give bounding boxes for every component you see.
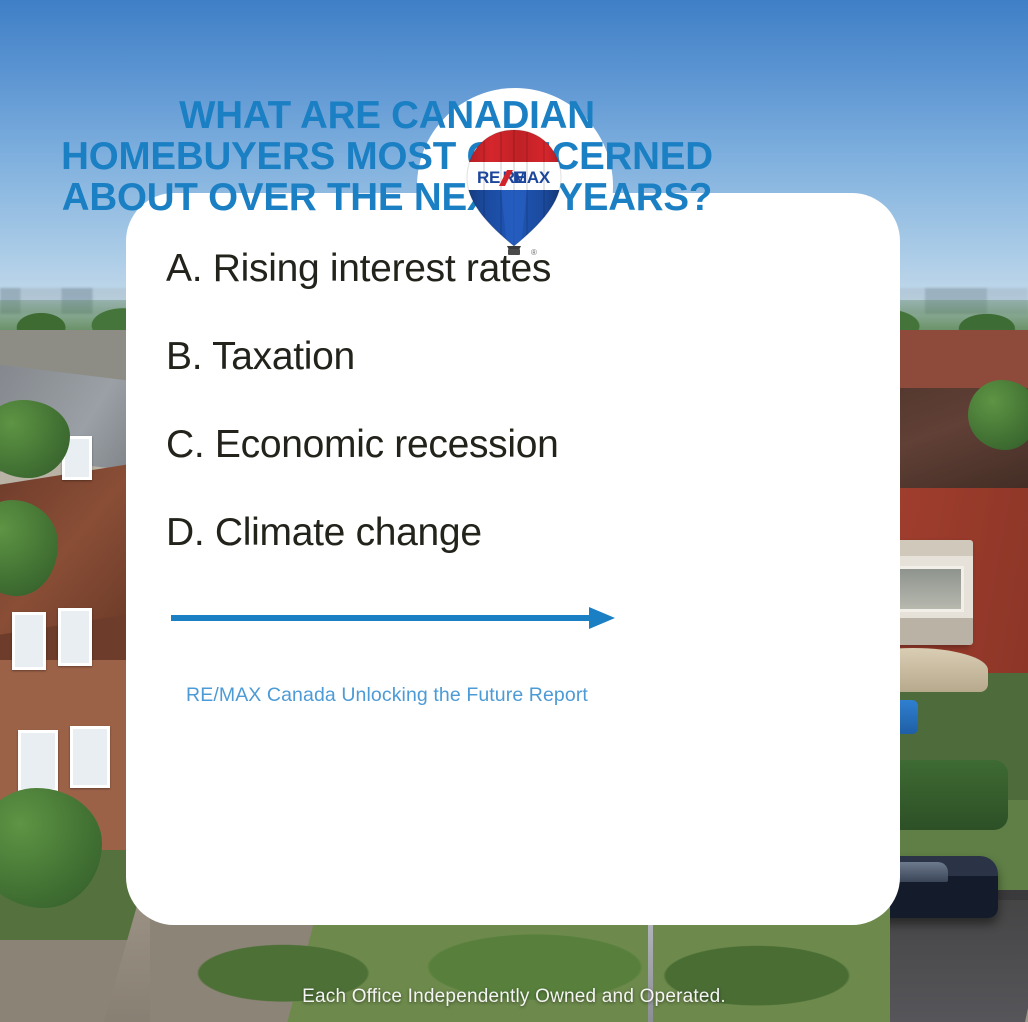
option-b[interactable]: B. Taxation [166,333,726,381]
title-line-3: ABOUT OVER THE NEXT 5 YEARS? [26,177,748,218]
svg-text:®: ® [531,248,537,256]
remax-balloon-logo-icon: RE RE/MAX RE MAX ® [461,128,567,256]
svg-text:RE: RE [477,168,500,187]
poster-canvas: RE RE/MAX RE MAX ® WHAT ARE CANADIAN HOM… [0,0,1028,1022]
right-bay-window-glass [892,566,964,612]
report-attribution: RE/MAX Canada Unlocking the Future Repor… [26,684,748,707]
left-window-4 [18,730,58,792]
right-arrow-icon [169,605,617,631]
option-a[interactable]: A. Rising interest rates [166,245,726,293]
answer-options-list: A. Rising interest rates B. Taxation C. … [166,245,726,597]
franchise-disclaimer: Each Office Independently Owned and Oper… [0,986,1028,1008]
option-c[interactable]: C. Economic recession [166,421,726,469]
card-content: WHAT ARE CANADIAN HOMEBUYERS MOST CONCER… [0,0,774,732]
title-line-1: WHAT ARE CANADIAN [26,95,748,136]
option-d[interactable]: D. Climate change [166,509,726,557]
title-line-2: HOMEBUYERS MOST CONCERNED [26,136,748,177]
page-title: WHAT ARE CANADIAN HOMEBUYERS MOST CONCER… [26,95,748,218]
svg-text:MAX: MAX [513,168,551,187]
left-window-5 [70,726,110,788]
